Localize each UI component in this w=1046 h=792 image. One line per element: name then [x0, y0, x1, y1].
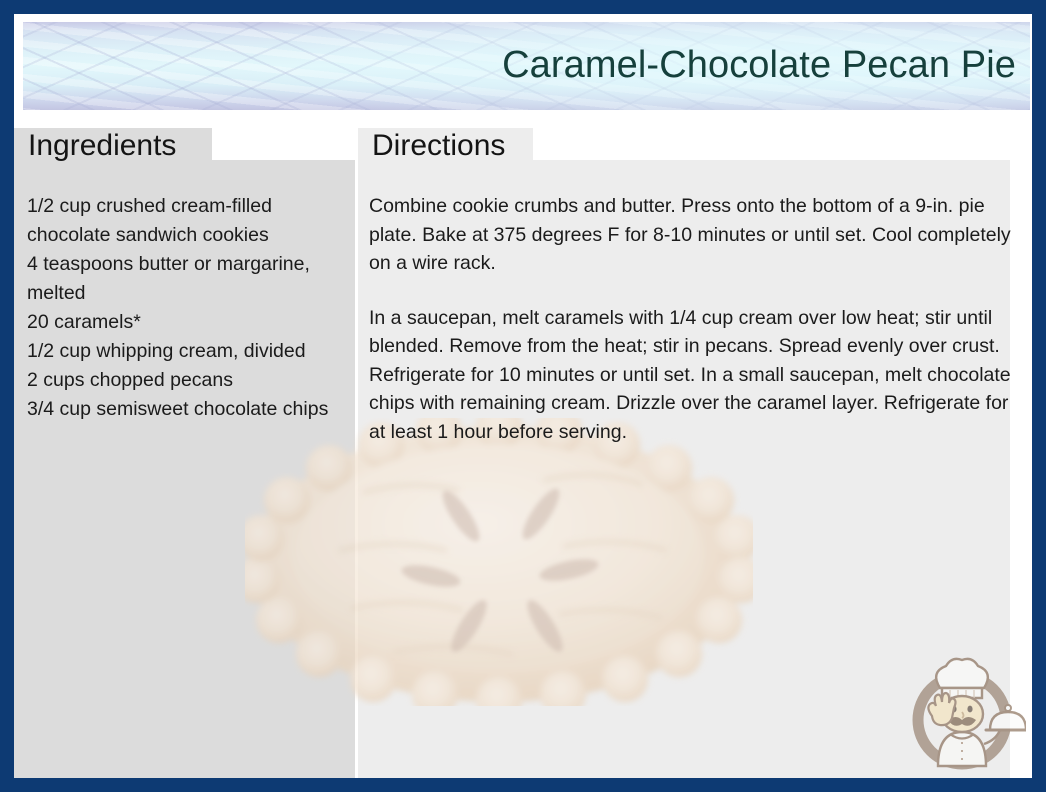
- ingredient-item: 1/2 cup whipping cream, divided: [27, 337, 347, 366]
- card-border-top: [0, 0, 1046, 14]
- ingredient-item: 2 cups chopped pecans: [27, 366, 347, 395]
- ingredient-item: 4 teaspoons butter or margarine, melted: [27, 250, 347, 308]
- directions-heading-tab: Directions: [358, 128, 533, 164]
- direction-paragraph: In a saucepan, melt caramels with 1/4 cu…: [369, 304, 1014, 447]
- ingredient-item: 1/2 cup crushed cream-filled chocolate s…: [27, 192, 347, 250]
- directions-heading: Directions: [372, 131, 505, 161]
- page-title: Caramel-Chocolate Pecan Pie: [502, 45, 1016, 87]
- direction-paragraph: Combine cookie crumbs and butter. Press …: [369, 192, 1014, 278]
- card-border-left: [0, 0, 14, 792]
- ingredient-item: 3/4 cup semisweet chocolate chips: [27, 395, 347, 424]
- directions-text: Combine cookie crumbs and butter. Press …: [369, 192, 1014, 446]
- card-border-bottom: [0, 778, 1046, 792]
- recipe-card: Caramel-Chocolate Pecan Pie Ingredients …: [0, 0, 1046, 792]
- ingredient-item: 20 caramels*: [27, 308, 347, 337]
- header-banner: Caramel-Chocolate Pecan Pie: [23, 22, 1030, 110]
- ingredients-list: 1/2 cup crushed cream-filled chocolate s…: [27, 192, 347, 424]
- ingredients-heading: Ingredients: [28, 131, 176, 161]
- ingredients-heading-tab: Ingredients: [14, 128, 212, 164]
- card-border-right: [1032, 0, 1046, 792]
